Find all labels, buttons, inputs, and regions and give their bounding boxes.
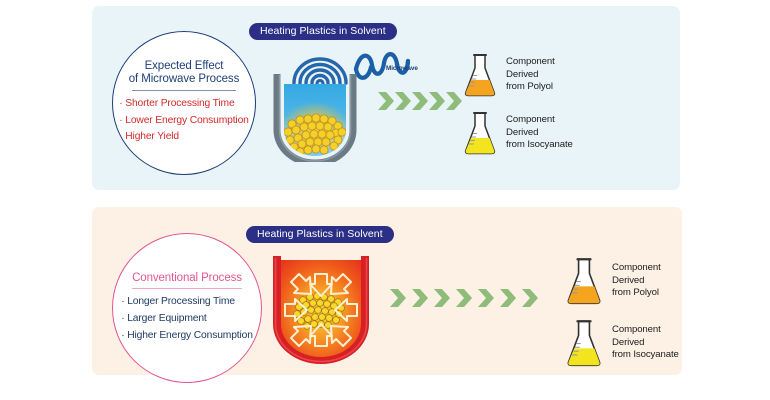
- output-isocyanate-top: Component Derived from Isocyanate: [461, 110, 573, 156]
- callout-divider: [132, 90, 236, 91]
- badge-heating-plastics-top: Heating Plastics in Solvent: [249, 23, 397, 40]
- expected-effect-callout: Expected Effect of Microwave Process Sho…: [112, 31, 256, 175]
- output-polyol-top: Component Derived from Polyol: [461, 52, 555, 98]
- diagram-stage: Expected Effect of Microwave Process Sho…: [0, 0, 770, 400]
- flask-caption: Component Derived from Isocyanate: [506, 114, 573, 152]
- list-item: Larger Equipment: [121, 311, 253, 328]
- flask-caption: Component Derived from Polyol: [506, 56, 555, 94]
- callout-title: Conventional Process: [132, 272, 242, 286]
- callout-divider: [132, 288, 242, 289]
- reaction-vessel-microwave-icon: [266, 70, 364, 162]
- process-arrow-chevrons-bottom: [390, 287, 550, 309]
- flask-caption: Component Derived from Isocyanate: [612, 324, 679, 362]
- reaction-vessel-heated-icon: [261, 250, 381, 370]
- callout-bullet-list: Longer Processing Time Larger Equipment …: [121, 294, 253, 344]
- process-arrow-chevrons-top: [378, 90, 464, 112]
- output-polyol-bottom: Component Derived from Polyol: [563, 256, 661, 306]
- microwave-label: Microwave: [386, 65, 418, 72]
- flask-caption: Component Derived from Polyol: [612, 262, 661, 300]
- erlenmeyer-flask-icon: [461, 110, 499, 156]
- callout-bullet-list: Shorter Processing Time Lower Energy Con…: [119, 96, 248, 146]
- badge-heating-plastics-bottom: Heating Plastics in Solvent: [246, 226, 394, 243]
- conventional-process-callout: Conventional Process Longer Processing T…: [112, 233, 262, 383]
- list-item: Higher Yield: [119, 129, 248, 146]
- erlenmeyer-flask-icon: [461, 52, 499, 98]
- erlenmeyer-flask-icon: [563, 318, 605, 368]
- erlenmeyer-flask-icon: [563, 256, 605, 306]
- callout-title: Expected Effect of Microwave Process: [129, 60, 239, 87]
- output-isocyanate-bottom: Component Derived from Isocyanate: [563, 318, 679, 368]
- list-item: Shorter Processing Time: [119, 96, 248, 113]
- list-item: Higher Energy Consumption: [121, 328, 253, 345]
- list-item: Longer Processing Time: [121, 294, 253, 311]
- list-item: Lower Energy Consumption: [119, 113, 248, 130]
